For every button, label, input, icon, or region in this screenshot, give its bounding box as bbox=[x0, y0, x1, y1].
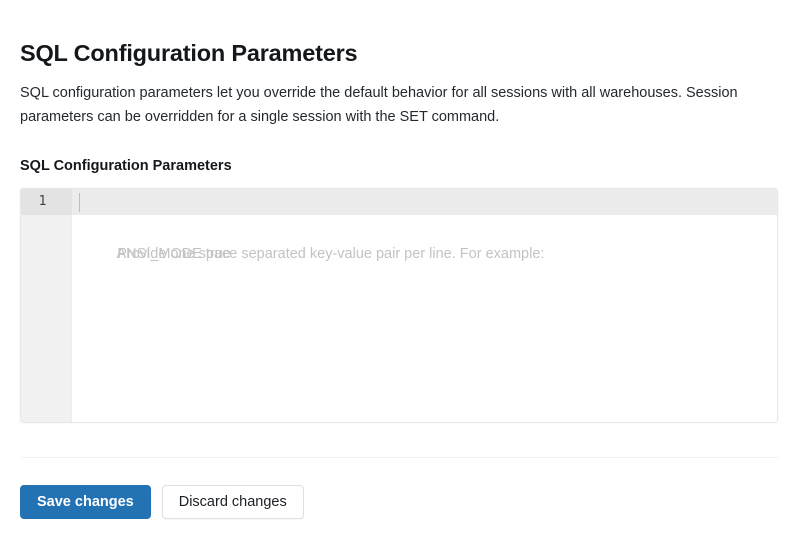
editor-text-area[interactable]: Provide one space separated key-value pa… bbox=[72, 189, 777, 422]
editor-placeholder-line-2: ANSI_MODE true bbox=[78, 215, 771, 241]
sql-configuration-parameters-label: SQL Configuration Parameters bbox=[20, 129, 780, 176]
section-divider bbox=[21, 457, 779, 458]
line-number-1: 1 bbox=[21, 189, 72, 215]
page-description: SQL configuration parameters let you ove… bbox=[20, 68, 762, 129]
sql-parameters-code-editor[interactable]: 1 Provide one space separated key-value … bbox=[20, 188, 778, 423]
editor-placeholder-line-1: Provide one space separated key-value pa… bbox=[78, 189, 771, 215]
text-cursor-caret bbox=[79, 193, 80, 212]
sql-configuration-parameters-page: SQL Configuration Parameters SQL configu… bbox=[0, 0, 800, 534]
form-action-bar: Save changes Discard changes bbox=[20, 485, 780, 519]
editor-line-number-gutter: 1 bbox=[21, 189, 72, 422]
page-title: SQL Configuration Parameters bbox=[20, 0, 780, 68]
editor-placeholder-text-2: ANSI_MODE true bbox=[116, 246, 230, 262]
save-changes-button[interactable]: Save changes bbox=[20, 485, 151, 519]
discard-changes-button[interactable]: Discard changes bbox=[162, 485, 304, 519]
